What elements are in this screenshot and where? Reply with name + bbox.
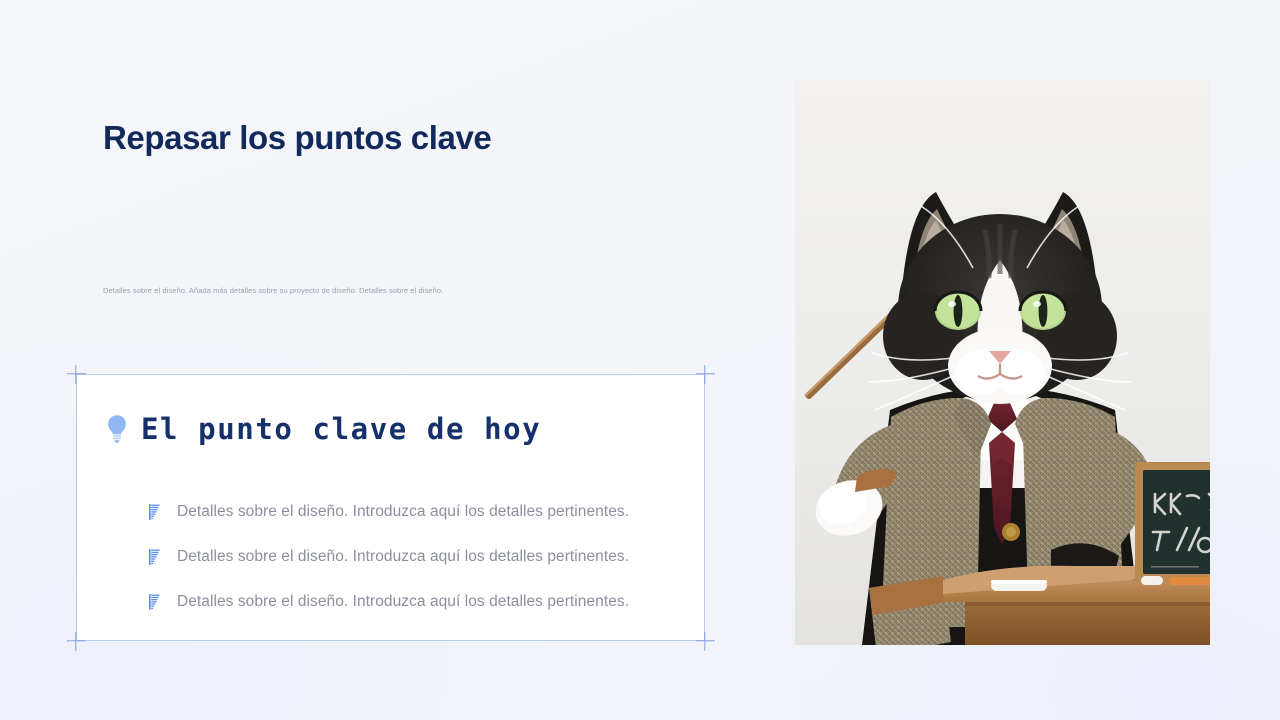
list-item-label: Detalles sobre el diseño. Introduzca aqu… xyxy=(177,548,629,566)
photo-illustration xyxy=(795,80,1210,645)
professor-cat-photo xyxy=(795,80,1210,645)
striped-arrow-bullet-icon xyxy=(149,504,160,520)
list-item-label: Detalles sobre el diseño. Introduzca aqu… xyxy=(177,593,629,611)
list-item: Detalles sobre el diseño. Introduzca aqu… xyxy=(149,579,685,624)
page-title: Repasar los puntos clave xyxy=(103,119,491,157)
key-point-card: El punto clave de hoy Detalles sobre el … xyxy=(76,374,705,641)
card-heading: El punto clave de hoy xyxy=(141,412,541,446)
lightbulb-icon xyxy=(106,414,128,444)
striped-arrow-bullet-icon xyxy=(149,549,160,565)
list-item: Detalles sobre el diseño. Introduzca aqu… xyxy=(149,534,685,579)
striped-arrow-bullet-icon xyxy=(149,594,160,610)
card-heading-row: El punto clave de hoy xyxy=(106,412,541,446)
subtitle-text: Detalles sobre el diseño. Añada más deta… xyxy=(103,285,663,296)
slide-canvas: Repasar los puntos clave Detalles sobre … xyxy=(0,0,1280,720)
bullet-list: Detalles sobre el diseño. Introduzca aqu… xyxy=(149,489,685,624)
list-item: Detalles sobre el diseño. Introduzca aqu… xyxy=(149,489,685,534)
list-item-label: Detalles sobre el diseño. Introduzca aqu… xyxy=(177,503,629,521)
